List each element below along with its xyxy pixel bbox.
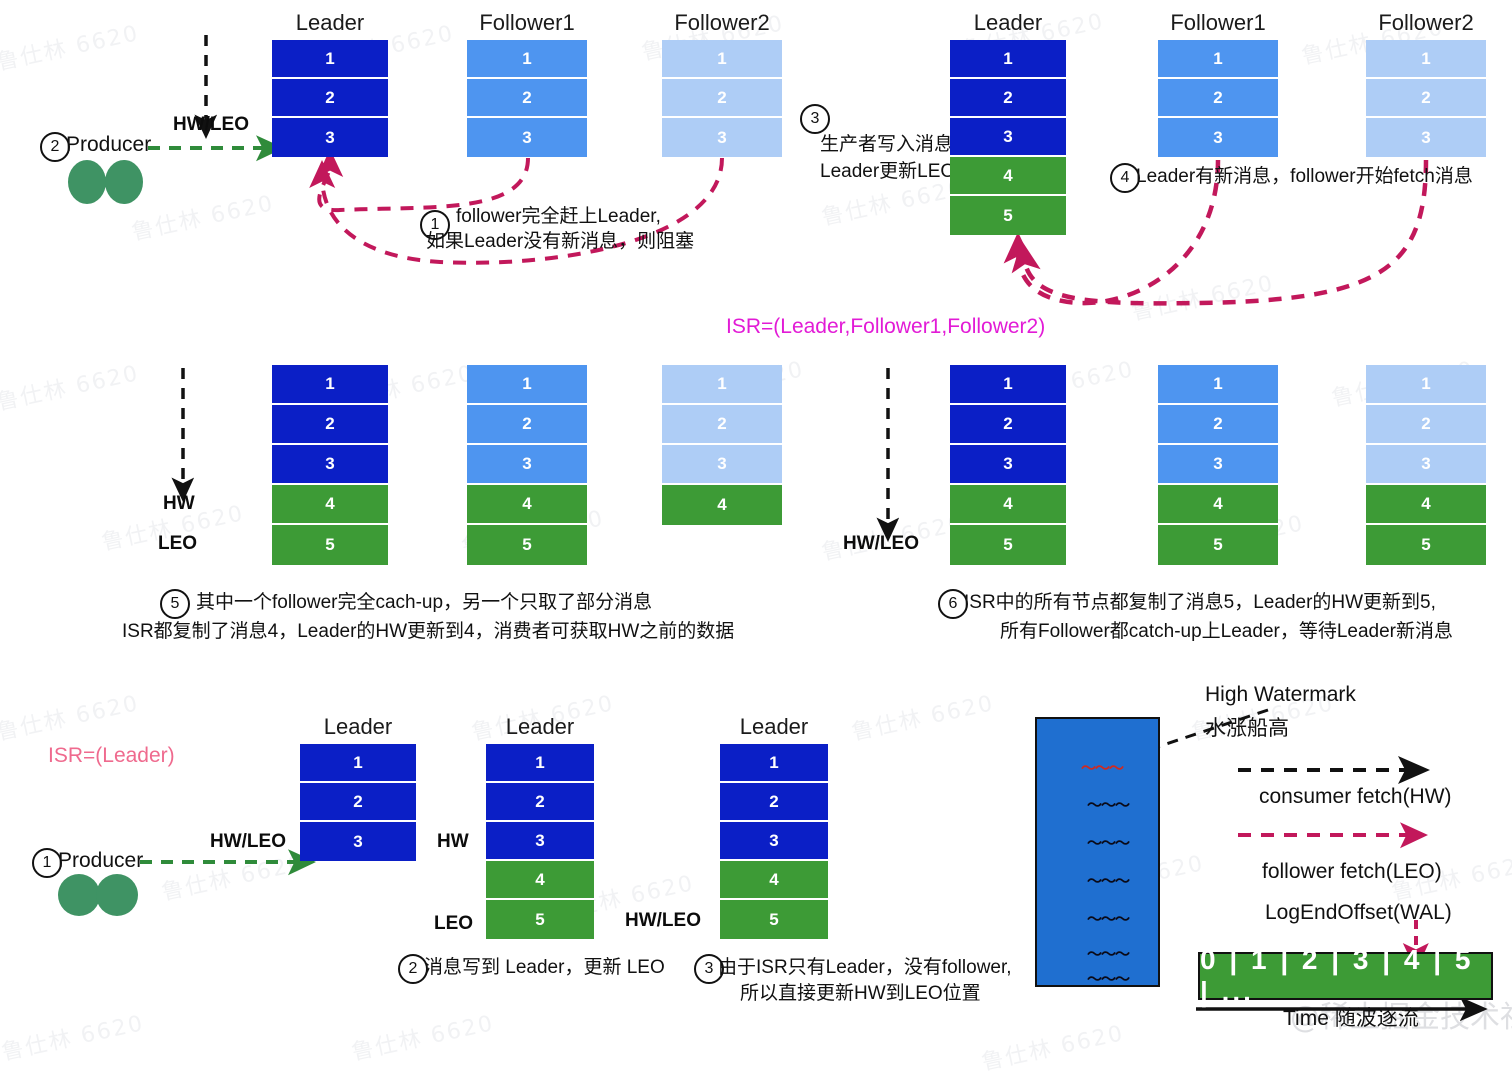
leader-stack-2: Leader 1 2 3 4 5	[950, 40, 1066, 235]
callout-3-line2: Leader更新LEO	[820, 157, 955, 186]
wal-offset-bar: 0 | 1 | 2 | 3 | 4 | 5 | ...	[1198, 952, 1493, 1000]
watermark-tile: 鲁仕林 6620	[128, 185, 276, 246]
leader-header: Leader	[296, 10, 365, 36]
log-cell: 1	[1158, 40, 1278, 79]
log-cell: 4	[950, 485, 1066, 525]
follower1-header: Follower1	[1170, 10, 1265, 36]
watermark-tile: 鲁仕林 6620	[0, 685, 142, 746]
log-cell: 3	[720, 822, 828, 861]
log-cell: 5	[467, 525, 587, 565]
wave-mark: 〜〜〜	[1087, 968, 1129, 989]
wave-mark: 〜〜〜	[1087, 870, 1129, 891]
follower1-header: Follower1	[479, 10, 574, 36]
follower1-stack-4: 1 2 3 4 5	[1158, 365, 1278, 565]
log-cell: 2	[950, 405, 1066, 445]
watermark-tile: 鲁仕林 6620	[0, 355, 142, 416]
log-cell: 1	[1158, 365, 1278, 405]
leader-stack-1: Leader 1 2 3	[272, 40, 388, 157]
log-cell: 2	[1158, 405, 1278, 445]
hw-leo-label: HW/LEO	[210, 831, 286, 853]
time-axis-label: Time 随波逐流	[1283, 1002, 1419, 1032]
follower1-stack-2: Follower1 1 2 3	[1158, 40, 1278, 157]
wave-mark: 〜〜〜	[1087, 832, 1129, 853]
log-cell: 5	[1366, 525, 1486, 565]
watermark-tile: 鲁仕林 6620	[1128, 265, 1276, 326]
log-cell: 3	[1366, 445, 1486, 485]
follower2-stack-1: Follower2 1 2 3	[662, 40, 782, 157]
log-cell: 1	[950, 365, 1066, 405]
callout-1-line2: 如果Leader没有新消息，则阻塞	[426, 227, 694, 256]
leader-header: Leader	[974, 10, 1043, 36]
log-cell: 2	[467, 405, 587, 445]
legend-log-end-offset: LogEndOffset(WAL)	[1265, 901, 1452, 925]
hw-label: HW	[163, 493, 195, 515]
follower2-stack-2: Follower2 1 2 3	[1366, 40, 1486, 157]
follower2-stack-3: 1 2 3 4	[662, 365, 782, 525]
producer-blob	[68, 160, 106, 204]
wave-mark: 〜〜〜	[1087, 794, 1129, 815]
log-cell: 1	[300, 744, 416, 783]
log-cell: 1	[486, 744, 594, 783]
log-cell: 4	[662, 485, 782, 525]
follower1-stack-3: 1 2 3 4 5	[467, 365, 587, 565]
callout-b2-text: 消息写到 Leader，更新 LEO	[424, 953, 665, 982]
log-cell: 1	[720, 744, 828, 783]
water-tank: 〜〜〜 〜〜〜 〜〜〜 〜〜〜 〜〜〜 〜〜〜 〜〜〜	[1035, 717, 1160, 987]
log-cell: 3	[1158, 118, 1278, 157]
follower2-header: Follower2	[1378, 10, 1473, 36]
log-cell: 1	[272, 365, 388, 405]
leader-stack-b1: Leader 1 2 3	[300, 744, 416, 861]
log-cell: 3	[662, 445, 782, 485]
callout-6-line2: 所有Follower都catch-up上Leader，等待Leader新消息	[1000, 617, 1453, 646]
watermark-tile: 鲁仕林 6620	[848, 685, 996, 746]
legend-follower-fetch: follower fetch(LEO)	[1262, 860, 1442, 884]
log-cell: 4	[720, 861, 828, 900]
log-cell: 5	[950, 525, 1066, 565]
log-cell: 4	[467, 485, 587, 525]
log-cell: 4	[1158, 485, 1278, 525]
log-cell: 3	[950, 118, 1066, 157]
callout-6-line1: ISR中的所有节点都复制了消息5，Leader的HW更新到5,	[964, 588, 1436, 617]
watermark-tile: 鲁仕林 6620	[978, 1015, 1126, 1076]
hw-label: HW	[437, 831, 469, 853]
hw-leo-label: HW/LEO	[625, 910, 701, 932]
isr-full-label: ISR=(Leader,Follower1,Follower2)	[726, 315, 1045, 339]
hw-leo-label: HW/LEO	[843, 533, 919, 555]
log-cell: 5	[486, 900, 594, 939]
log-cell: 2	[272, 405, 388, 445]
callout-5-line1: 其中一个follower完全cach-up，另一个只取了部分消息	[196, 588, 652, 617]
producer-blob	[96, 874, 138, 916]
log-cell: 4	[486, 861, 594, 900]
log-cell: 2	[1366, 405, 1486, 445]
log-cell: 1	[662, 40, 782, 79]
log-cell: 1	[662, 365, 782, 405]
watermark-tile: 鲁仕林 6620	[0, 1005, 147, 1066]
log-cell: 5	[272, 525, 388, 565]
leader-header: Leader	[740, 714, 809, 740]
isr-leader-only-label: ISR=(Leader)	[48, 744, 175, 768]
leader-header: Leader	[506, 714, 575, 740]
log-cell: 4	[950, 157, 1066, 196]
leader-stack-b3: Leader 1 2 3 4 5	[720, 744, 828, 939]
log-cell: 2	[1158, 79, 1278, 118]
wave-mark: 〜〜〜	[1087, 943, 1129, 964]
log-cell: 2	[720, 783, 828, 822]
step-badge-5: 5	[160, 589, 190, 619]
log-cell: 1	[1366, 40, 1486, 79]
follower1-stack-1: Follower1 1 2 3	[467, 40, 587, 157]
log-cell: 2	[950, 79, 1066, 118]
high-watermark-title-cn: 水涨船高	[1205, 712, 1289, 742]
log-cell: 5	[1158, 525, 1278, 565]
log-cell: 5	[720, 900, 828, 939]
log-cell: 1	[272, 40, 388, 79]
leader-stack-b2: Leader 1 2 3 4 5	[486, 744, 594, 939]
producer-blob	[58, 874, 100, 916]
log-cell: 3	[272, 445, 388, 485]
log-cell: 3	[272, 118, 388, 157]
log-cell: 3	[1158, 445, 1278, 485]
diagram-canvas: 鲁仕林 6620 鲁仕林 6620 鲁仕林 6620 鲁仕林 6620 鲁仕林 …	[0, 0, 1512, 1069]
leo-label: LEO	[434, 913, 473, 935]
log-cell: 3	[486, 822, 594, 861]
watermark-tile: 鲁仕林 6620	[0, 15, 142, 76]
watermark-tile: 鲁仕林 6620	[158, 845, 306, 906]
leo-label: LEO	[158, 533, 197, 555]
log-cell: 4	[1366, 485, 1486, 525]
log-cell: 3	[467, 118, 587, 157]
leader-header: Leader	[324, 714, 393, 740]
leader-stack-3: 1 2 3 4 5	[272, 365, 388, 565]
log-cell: 1	[950, 40, 1066, 79]
hw-leo-label: HW/LEO	[173, 114, 249, 136]
log-cell: 5	[950, 196, 1066, 235]
callout-4-text: Leader有新消息，follower开始fetch消息	[1136, 162, 1473, 191]
log-cell: 3	[950, 445, 1066, 485]
high-watermark-line: 〜〜〜	[1081, 757, 1123, 778]
log-cell: 1	[1366, 365, 1486, 405]
legend-consumer-fetch: consumer fetch(HW)	[1259, 785, 1452, 809]
producer-blob	[105, 160, 143, 204]
log-cell: 3	[300, 822, 416, 861]
log-cell: 1	[467, 40, 587, 79]
callout-b3-line2: 所以直接更新HW到LEO位置	[740, 979, 981, 1008]
follower2-header: Follower2	[674, 10, 769, 36]
log-cell: 1	[467, 365, 587, 405]
log-cell: 2	[1366, 79, 1486, 118]
follower2-stack-4: 1 2 3 4 5	[1366, 365, 1486, 565]
producer-label: Producer	[58, 849, 143, 873]
log-cell: 2	[467, 79, 587, 118]
log-cell: 2	[486, 783, 594, 822]
leader-stack-4: 1 2 3 4 5	[950, 365, 1066, 565]
producer-label: Producer	[66, 133, 151, 157]
log-cell: 3	[662, 118, 782, 157]
wave-mark: 〜〜〜	[1087, 908, 1129, 929]
callout-b3-line1: 由于ISR只有Leader，没有follower,	[718, 953, 1012, 982]
callout-3-line1: 生产者写入消息	[820, 130, 953, 159]
log-cell: 2	[272, 79, 388, 118]
high-watermark-title-en: High Watermark	[1205, 683, 1356, 707]
log-cell: 2	[300, 783, 416, 822]
log-cell: 2	[662, 79, 782, 118]
log-cell: 3	[1366, 118, 1486, 157]
log-cell: 4	[272, 485, 388, 525]
log-cell: 3	[467, 445, 587, 485]
callout-5-line2: ISR都复制了消息4，Leader的HW更新到4，消费者可获取HW之前的数据	[122, 617, 734, 646]
log-cell: 2	[662, 405, 782, 445]
watermark-tile: 鲁仕林 6620	[348, 1005, 496, 1066]
